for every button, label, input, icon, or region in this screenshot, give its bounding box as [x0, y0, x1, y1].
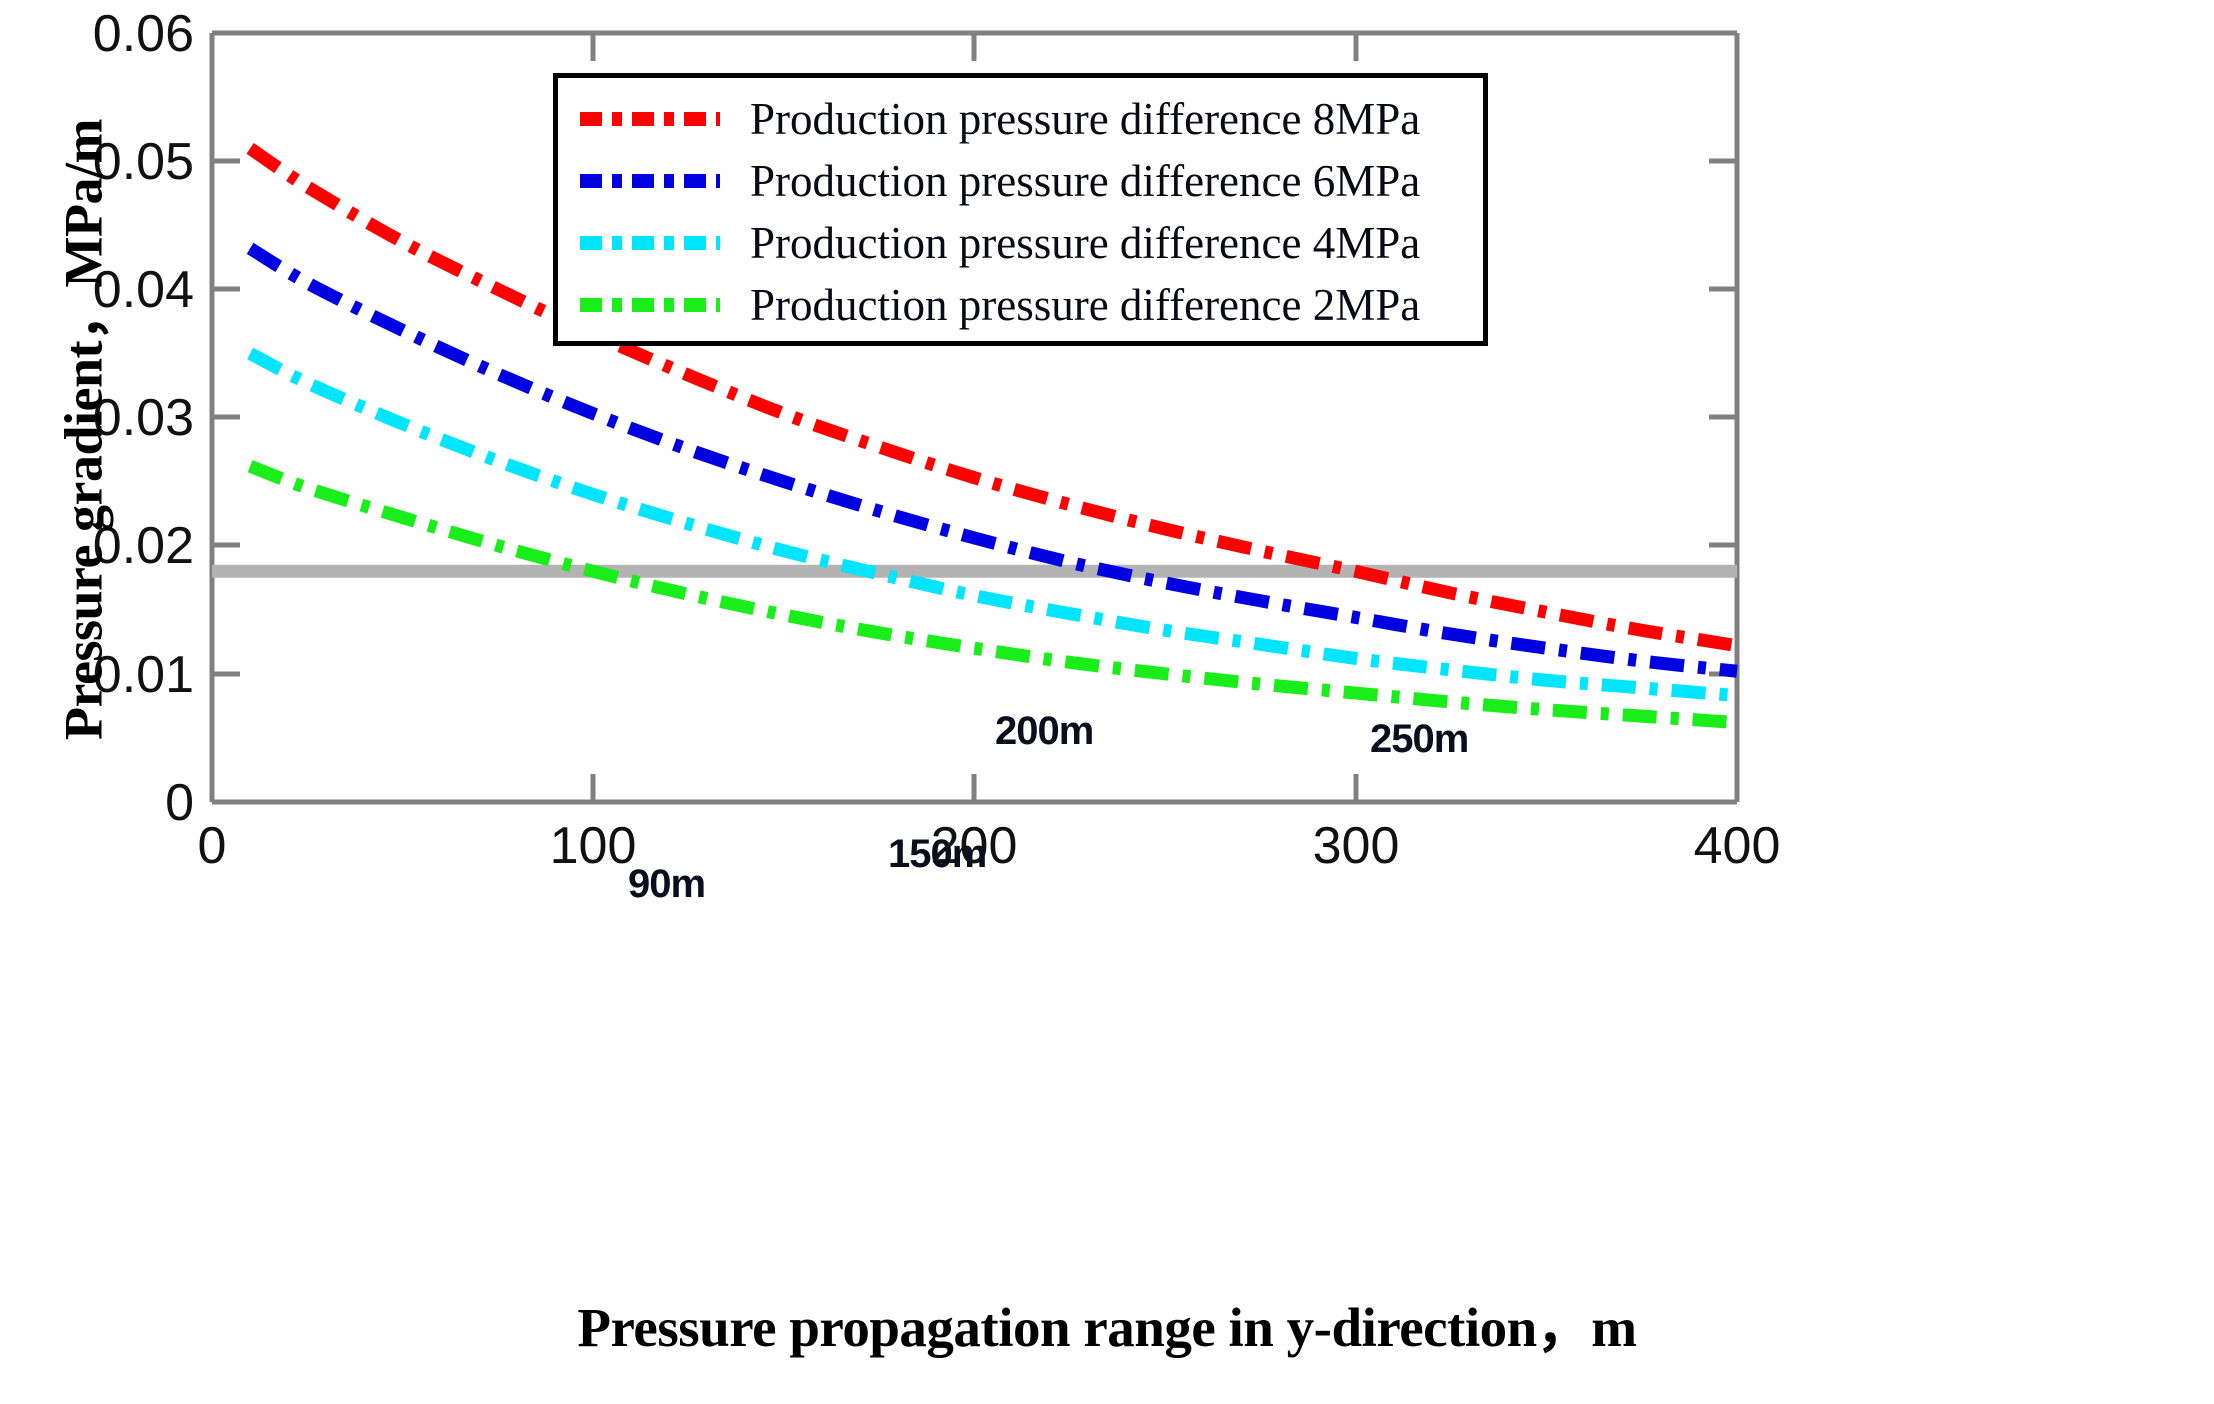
x-tick-label-400: 400 — [1627, 820, 1847, 872]
legend-item-4mpa[interactable]: Production pressure difference 4MPa — [558, 212, 1483, 274]
x-tick-label-300: 300 — [1246, 820, 1466, 872]
annotation-150m: 150m — [888, 832, 986, 877]
legend-swatch-6mpa — [580, 174, 720, 188]
annotation-90m: 90m — [628, 862, 705, 907]
y-axis-title: Pressure gradient，MPa/m — [39, 50, 118, 810]
legend-item-6mpa[interactable]: Production pressure difference 6MPa — [558, 150, 1483, 212]
annotation-200m: 200m — [995, 709, 1093, 754]
legend-label-2mpa: Production pressure difference 2MPa — [750, 283, 1420, 328]
legend-item-2mpa[interactable]: Production pressure difference 2MPa — [558, 274, 1483, 336]
x-tick-label-0: 0 — [102, 820, 322, 872]
legend-item-8mpa[interactable]: Production pressure difference 8MPa — [558, 88, 1483, 150]
chart-figure: 0.06 0.05 0.04 0.03 0.02 0.01 0 0 100 20… — [0, 0, 2214, 1404]
legend-label-6mpa: Production pressure difference 6MPa — [750, 159, 1420, 204]
legend-label-4mpa: Production pressure difference 4MPa — [750, 221, 1420, 266]
x-axis-title: Pressure propagation range in y-directio… — [0, 1282, 2214, 1362]
legend-box: Production pressure difference 8MPa Prod… — [553, 73, 1488, 346]
legend-swatch-8mpa — [580, 112, 720, 126]
legend-swatch-4mpa — [580, 236, 720, 250]
annotation-250m: 250m — [1370, 717, 1468, 762]
legend-swatch-2mpa — [580, 298, 720, 312]
legend-label-8mpa: Production pressure difference 8MPa — [750, 97, 1420, 142]
